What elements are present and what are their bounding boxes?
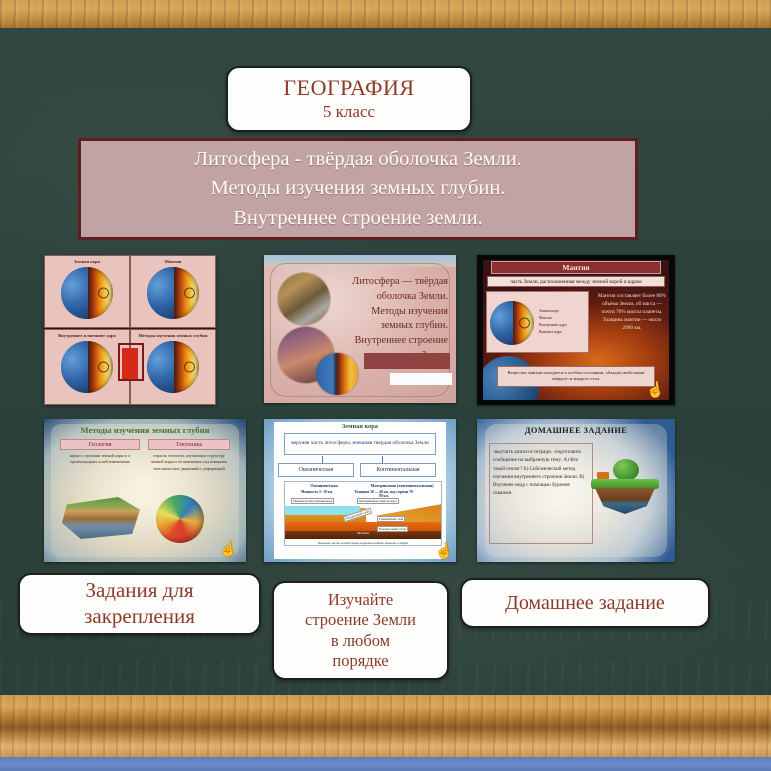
- accent-bar-dark: [364, 353, 450, 369]
- tree-icon: [613, 459, 639, 481]
- slide-title: Земная кора: [264, 423, 456, 430]
- pointing-hand-icon: ☝: [645, 383, 666, 400]
- cta-study-order[interactable]: Изучайте строение Земли в любом порядке: [272, 581, 449, 680]
- slide-thumbnail-homework[interactable]: ДОМАШНЕЕ ЗАДАНИЕ -выучить записи в тетра…: [477, 419, 675, 562]
- pointing-hand-icon: ☝: [218, 542, 239, 559]
- pill-continental: Континентальная: [360, 463, 436, 477]
- tectonics-description: отрасль геологии, изучающая структуру зе…: [148, 453, 230, 472]
- soil-cross-section: [595, 488, 655, 514]
- earth-cutaway-icon: [61, 341, 113, 393]
- slide-title: ДОМАШНЕЕ ЗАДАНИЕ: [477, 426, 675, 435]
- cta-study-line-3: в любом: [305, 631, 416, 651]
- pill-oceanic: Океаническая: [278, 463, 354, 477]
- page-title-subject: ГЕОГРАФИЯ: [283, 75, 414, 102]
- slide-body-text: Мантия составляет более 80% объёма Земли…: [597, 293, 667, 333]
- cta-study-line-4: порядке: [305, 651, 416, 671]
- layer-labels: Земная кора Мантия Внутреннее ядро Внешн…: [534, 308, 588, 337]
- crust-definition: верхняя часть литосферы, внешняя твердая…: [284, 433, 436, 455]
- cta-practice-line-1: Задания для: [84, 578, 195, 604]
- slide-thumbnail-menu[interactable]: Земная кора Мантия Внутреннее и внешнее …: [44, 255, 216, 405]
- quadrant-earth-crust[interactable]: Земная кора: [44, 255, 130, 328]
- slide-title-text: Литосфера — твёрдая оболочка Земли. Мето…: [342, 275, 448, 364]
- slide-title: Мантия: [491, 261, 661, 274]
- cta-homework-line-1: Домашнее задание: [505, 591, 665, 615]
- slide-thumbnail-methods[interactable]: Методы изучения земных глубин Геология Т…: [44, 419, 246, 562]
- slide-thumbnail-title[interactable]: Литосфера — твёрдая оболочка Земли. Мето…: [264, 255, 456, 403]
- rock-photo-circle: [278, 273, 330, 325]
- earth-cutaway-icon: [490, 301, 534, 345]
- divider: [44, 328, 216, 329]
- label-granite: Гранитный слой: [377, 516, 405, 522]
- earth-cutaway-icon: [147, 267, 199, 319]
- pointing-hand-icon: ☝: [434, 544, 455, 561]
- figure-headers: Океаническая Материковая (континентальна…: [285, 483, 441, 488]
- page-title: ГЕОГРАФИЯ 5 класс: [226, 66, 472, 132]
- truck-icon: [597, 472, 609, 479]
- slide-subtitle: часть Земли, расположенная между земной …: [487, 276, 665, 287]
- homework-items: -выучить записи в тетради. -подготовить …: [489, 443, 593, 544]
- cta-practice-line-2: закрепления: [84, 604, 195, 630]
- measure-oceanic: Мощность 5- 10 км.: [289, 490, 345, 494]
- banner-line-1: Литосфера - твёрдая оболочка Земли.: [194, 145, 522, 174]
- banner-line-2: Методы изучения земных глубин.: [211, 174, 506, 203]
- wooden-frame-bottom: [0, 695, 771, 757]
- slide-note: Вещество мантии находится в особом состо…: [497, 366, 655, 387]
- crust-cross-section-figure: Океаническая Материковая (континентальна…: [284, 481, 442, 546]
- label-continental-crust: Материковая земная кора: [357, 498, 399, 504]
- page-title-grade: 5 класс: [283, 102, 414, 123]
- quadrant-mantle[interactable]: Мантия: [130, 255, 216, 328]
- slide-title: Методы изучения земных глубин: [44, 425, 246, 435]
- earth-diagram-panel: Земная кора Мантия Внутреннее ядро Внешн…: [486, 291, 589, 353]
- band-mantle: Мантия: [285, 531, 441, 539]
- lesson-topic-banner: Литосфера - твёрдая оболочка Земли. Мето…: [78, 138, 638, 240]
- wooden-frame-top: [0, 0, 771, 28]
- banner-line-3: Внутреннее строение земли.: [233, 204, 483, 233]
- cta-practice-tasks[interactable]: Задания для закрепления: [18, 573, 261, 635]
- arrow-right: [382, 456, 383, 463]
- earth-cutaway-icon: [147, 341, 199, 393]
- red-door-highlight: [118, 343, 144, 381]
- tag-geology: Геология: [60, 439, 140, 450]
- tectonic-globe-illustration: [156, 495, 204, 543]
- island-illustration: [587, 457, 663, 519]
- accent-bar-light: [390, 373, 452, 385]
- cta-homework[interactable]: Домашнее задание: [460, 578, 710, 628]
- grass-layer: [591, 479, 659, 489]
- geology-description: наука о строении земной коры и о произош…: [60, 453, 140, 466]
- label-oceanic-crust: Океаническая земная кора: [291, 498, 334, 504]
- slide-thumbnail-mantle[interactable]: Мантия часть Земли, расположенная между …: [477, 255, 675, 405]
- earth-cutaway-icon: [61, 267, 113, 319]
- arrow-left: [322, 456, 323, 463]
- figure-footer: Большая часть земной коры покрыта водами…: [285, 541, 441, 545]
- tag-tectonics: Тектоника: [148, 439, 230, 450]
- label-basalt: Базальтовый слой: [377, 526, 408, 532]
- label-mantle: Мантия: [285, 531, 441, 535]
- slide-thumbnail-crust[interactable]: Земная кора верхняя часть литосферы, вне…: [264, 419, 456, 562]
- cta-study-line-1: Изучайте: [305, 590, 416, 610]
- bottom-blue-strip: [0, 757, 771, 771]
- cta-study-line-2: строение Земли: [305, 610, 416, 630]
